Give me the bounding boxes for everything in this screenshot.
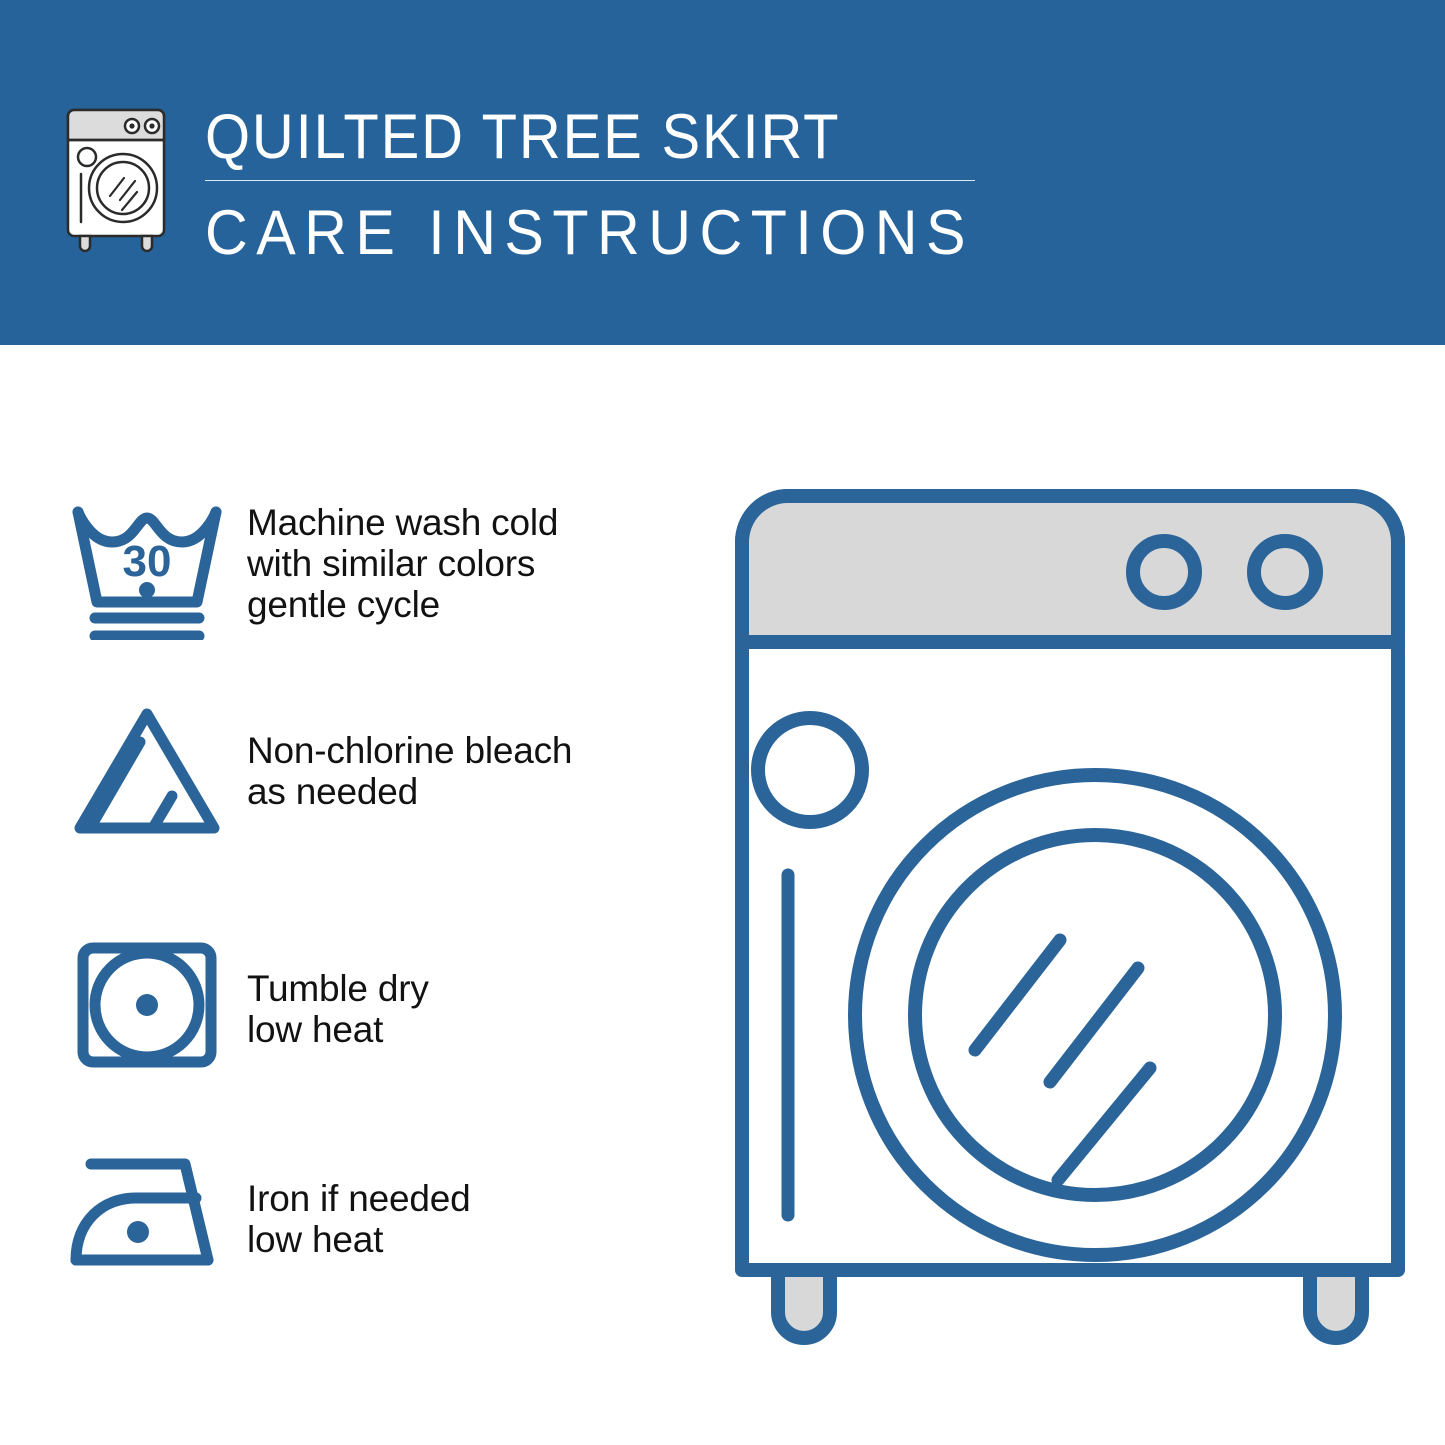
- care-text-tumble-dry: Tumble dry low heat: [235, 930, 680, 1050]
- care-line: gentle cycle: [247, 584, 680, 625]
- page-title: QUILTED TREE SKIRT: [205, 100, 932, 174]
- care-line: with similar colors: [247, 543, 680, 584]
- page-header: QUILTED TREE SKIRT CARE INSTRUCTIONS: [0, 0, 1445, 345]
- care-text-bleach: Non-chlorine bleach as needed: [235, 700, 680, 812]
- care-line: Machine wash cold: [247, 502, 680, 543]
- header-titles: QUILTED TREE SKIRT CARE INSTRUCTIONS: [205, 100, 995, 269]
- care-text-iron: Iron if needed low heat: [235, 1140, 680, 1260]
- care-row-tumble-dry: Tumble dry low heat: [60, 930, 680, 1080]
- iron-icon: [60, 1140, 235, 1290]
- dispenser-circle: [758, 718, 862, 822]
- title-divider: [205, 180, 975, 181]
- control-knob: [1133, 541, 1195, 603]
- care-line: low heat: [247, 1009, 680, 1050]
- care-text-machine-wash: Machine wash cold with similar colors ge…: [235, 490, 680, 625]
- care-row-bleach: Non-chlorine bleach as needed: [60, 700, 680, 850]
- care-line: as needed: [247, 771, 680, 812]
- care-line: Non-chlorine bleach: [247, 730, 680, 771]
- control-knob: [1254, 541, 1316, 603]
- care-line: Tumble dry: [247, 968, 680, 1009]
- washing-machine-icon: [60, 104, 180, 254]
- care-row-machine-wash: 30 Machine wash cold with similar colors…: [60, 490, 680, 640]
- tumble-dry-icon: [60, 930, 235, 1080]
- care-instructions-page: QUILTED TREE SKIRT CARE INSTRUCTIONS 30: [0, 0, 1445, 1445]
- wash-tub-icon: 30: [60, 490, 235, 640]
- care-line: Iron if needed: [247, 1178, 680, 1219]
- care-instruction-list: 30 Machine wash cold with similar colors…: [0, 345, 700, 1445]
- bleach-triangle-icon: [60, 700, 235, 850]
- washing-machine-illustration: [720, 470, 1420, 1360]
- care-row-iron: Iron if needed low heat: [60, 1140, 680, 1290]
- page-subtitle: CARE INSTRUCTIONS: [205, 197, 948, 269]
- care-line: low heat: [247, 1219, 680, 1260]
- wash-temperature-label: 30: [123, 537, 172, 586]
